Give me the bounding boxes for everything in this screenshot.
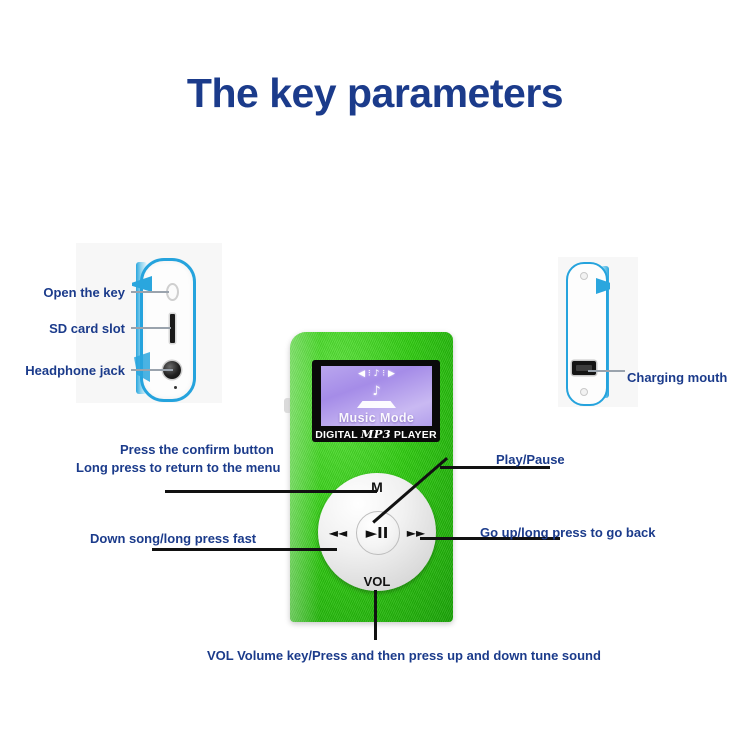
leader-line-down-song bbox=[152, 548, 337, 551]
callout-open-the-key: Open the key bbox=[30, 284, 125, 301]
device-screen: ◀ ⁝ ♪ ⁝ ▶ ♪ Music Mode bbox=[321, 366, 432, 426]
screen-mode-text: Music Mode bbox=[321, 411, 432, 425]
brand-text: DIGITAL MP3 PLAYER bbox=[312, 427, 440, 441]
callout-down-song: Down song/long press fast bbox=[90, 530, 256, 547]
callout-confirm-line2: Long press to return to the menu bbox=[76, 459, 280, 476]
callout-confirm-line1: Press the confirm button bbox=[120, 441, 274, 458]
screw-top-icon bbox=[580, 272, 588, 280]
reset-pinhole-icon bbox=[174, 386, 177, 389]
music-note-icon: ♪ bbox=[321, 385, 432, 398]
infographic-canvas: The key parameters Open the key SD card … bbox=[0, 0, 750, 750]
leader-line-volume-vertical bbox=[374, 590, 377, 640]
volume-button-label[interactable]: VOL bbox=[356, 574, 398, 589]
play-pause-icon[interactable]: ►II bbox=[356, 524, 398, 542]
callout-sd-card-slot: SD card slot bbox=[30, 320, 125, 337]
previous-track-icon[interactable]: ◄◄ bbox=[326, 526, 350, 540]
charging-port-icon bbox=[572, 361, 596, 375]
callout-headphone-jack: Headphone jack bbox=[18, 362, 125, 379]
screen-topbar-icons: ◀ ⁝ ♪ ⁝ ▶ bbox=[321, 369, 432, 379]
leader-line-headphone-jack bbox=[131, 369, 173, 371]
screen-pedestal-graphic bbox=[357, 401, 396, 408]
callout-volume: VOL Volume key/Press and then press up a… bbox=[207, 647, 601, 664]
leader-line-charging-mouth bbox=[588, 370, 625, 372]
leader-line-confirm bbox=[165, 490, 377, 493]
leader-line-open-the-key bbox=[131, 291, 169, 293]
callout-charging-mouth: Charging mouth bbox=[627, 369, 727, 386]
callout-play-pause: Play/Pause bbox=[496, 451, 565, 468]
brand-suffix: PLAYER bbox=[391, 429, 437, 441]
page-title: The key parameters bbox=[0, 70, 750, 117]
brand-mp3: MP3 bbox=[361, 427, 391, 441]
sd-card-slot-icon bbox=[170, 314, 175, 343]
brand-prefix: DIGITAL bbox=[315, 429, 361, 441]
callout-go-up: Go up/long press to go back bbox=[480, 524, 656, 541]
menu-button-label[interactable]: M bbox=[360, 479, 394, 495]
leader-line-sd-card-slot bbox=[131, 327, 171, 329]
screw-bottom-icon bbox=[580, 388, 588, 396]
